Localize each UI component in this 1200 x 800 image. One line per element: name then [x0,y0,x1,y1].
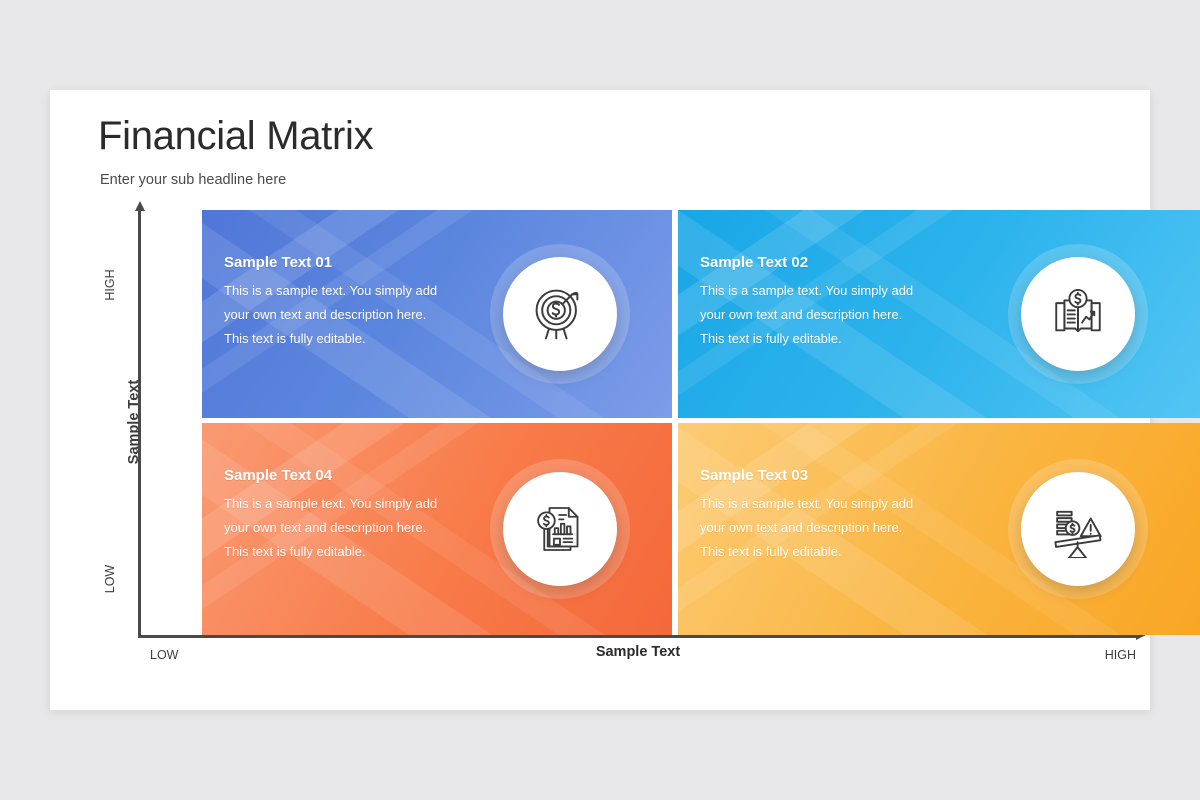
slide-canvas: Financial Matrix Enter your sub headline… [50,90,1150,710]
quadrant-title: Sample Text 02 [700,254,928,271]
icon-disc [503,257,617,371]
quadrant-top-left[interactable]: Sample Text 01 This is a sample text. Yo… [202,210,672,418]
ledger-book-chart-icon [1049,285,1107,343]
icon-disc [1021,472,1135,586]
x-axis-title: Sample Text [488,644,788,660]
target-dollar-icon [530,284,590,344]
y-axis-high-label: HIGH [103,255,117,315]
quadrant-description: This is a sample text. You simply add yo… [224,492,452,564]
financial-report-icon [532,501,588,557]
quadrant-description: This is a sample text. You simply add yo… [224,279,452,351]
quadrant-text-block: Sample Text 02 This is a sample text. Yo… [700,254,928,351]
quadrant-bottom-right[interactable]: Sample Text 03 This is a sample text. Yo… [678,423,1200,635]
quadrant-bottom-left[interactable]: Sample Text 04 This is a sample text. Yo… [202,423,672,635]
x-axis-high-label: HIGH [1050,648,1136,662]
x-axis-line [138,635,1138,638]
quadrant-top-right[interactable]: Sample Text 02 This is a sample text. Yo… [678,210,1200,418]
quadrant-description: This is a sample text. You simply add yo… [700,279,928,351]
quadrant-text-block: Sample Text 01 This is a sample text. Yo… [224,254,452,351]
icon-disc [503,472,617,586]
page-subtitle: Enter your sub headline here [100,172,286,188]
risk-balance-scale-icon [1049,500,1107,558]
x-axis-low-label: LOW [150,648,178,662]
quadrant-text-block: Sample Text 03 This is a sample text. Yo… [700,467,928,564]
y-axis-arrow-icon [135,201,145,211]
y-axis-low-label: LOW [103,549,117,609]
page-title: Financial Matrix [98,114,373,159]
y-axis-title: Sample Text [126,362,142,482]
quadrant-title: Sample Text 03 [700,467,928,484]
icon-disc [1021,257,1135,371]
financial-matrix: HIGH Sample Text LOW LOW Sample Text HIG… [138,210,1143,670]
quadrant-title: Sample Text 01 [224,254,452,271]
quadrant-text-block: Sample Text 04 This is a sample text. Yo… [224,467,452,564]
quadrant-description: This is a sample text. You simply add yo… [700,492,928,564]
quadrant-title: Sample Text 04 [224,467,452,484]
